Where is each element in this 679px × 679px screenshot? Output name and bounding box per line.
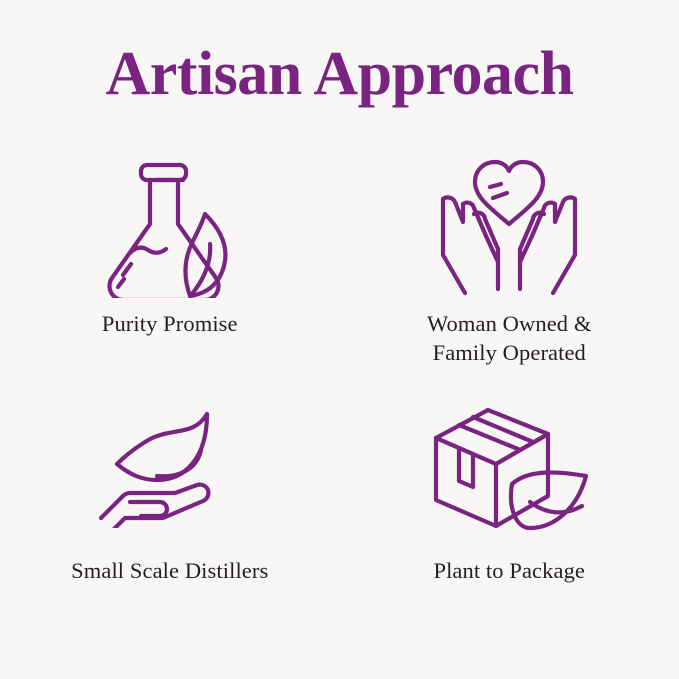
feature-label-line1: Small Scale Distillers bbox=[71, 558, 268, 583]
feature-label-woman-owned: Woman Owned & Family Operated bbox=[427, 310, 591, 368]
feature-label-plant-to-package: Plant to Package bbox=[433, 557, 585, 586]
feature-label-small-scale-distillers: Small Scale Distillers bbox=[71, 557, 268, 586]
feature-label-line1: Plant to Package bbox=[433, 558, 585, 583]
feature-item-purity-promise: Purity Promise bbox=[0, 150, 340, 400]
feature-grid: Purity Promise bbox=[0, 150, 679, 650]
feature-label-line2: Family Operated bbox=[427, 339, 591, 368]
feature-label-line1: Woman Owned & bbox=[427, 311, 591, 336]
feature-item-small-scale-distillers: Small Scale Distillers bbox=[0, 400, 340, 650]
hand-leaf-icon bbox=[95, 400, 245, 535]
feature-label-line1: Purity Promise bbox=[102, 311, 238, 336]
feature-item-plant-to-package: Plant to Package bbox=[340, 400, 679, 650]
page-title: Artisan Approach bbox=[0, 42, 679, 107]
artisan-approach-infographic: Artisan Approach bbox=[0, 0, 679, 679]
flask-leaf-icon bbox=[95, 150, 245, 300]
box-leaf-icon bbox=[426, 400, 592, 535]
hands-heart-icon bbox=[423, 150, 595, 300]
feature-label-purity-promise: Purity Promise bbox=[102, 310, 238, 339]
feature-item-woman-owned: Woman Owned & Family Operated bbox=[340, 150, 679, 400]
